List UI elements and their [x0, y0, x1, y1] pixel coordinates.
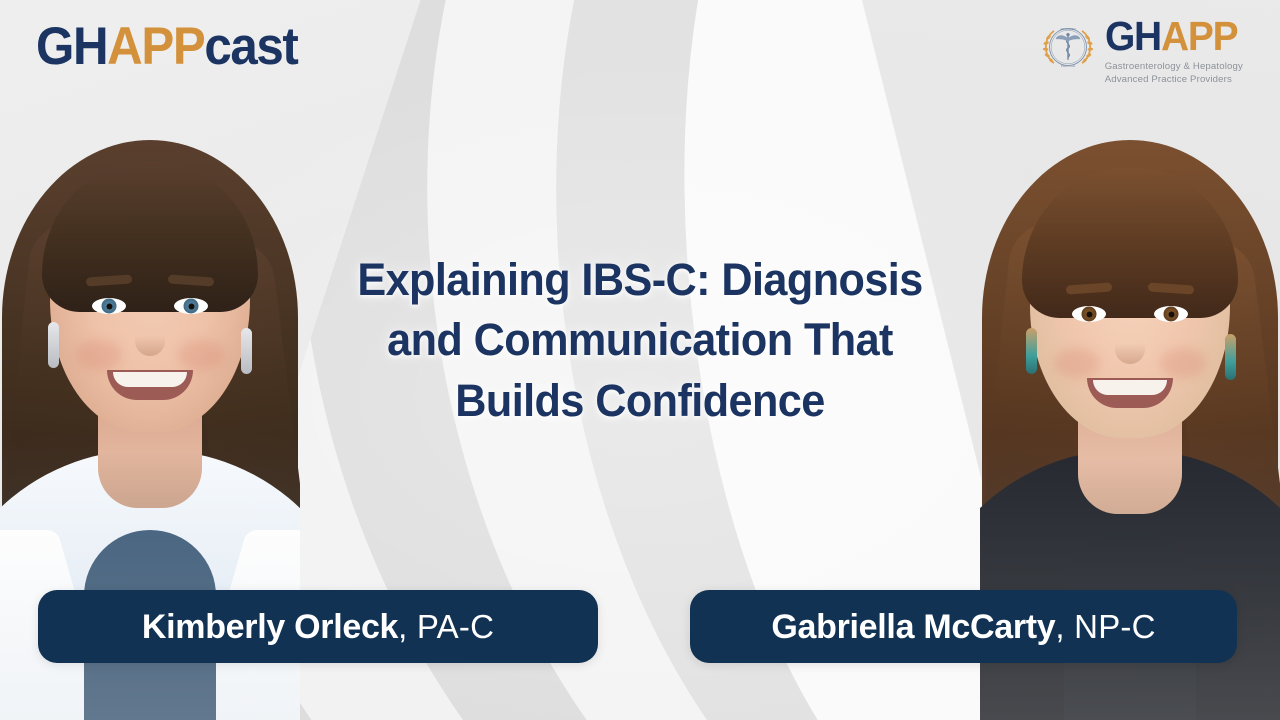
speaker-name-right: Gabriella McCarty — [771, 608, 1055, 646]
speaker-credential-right — [1065, 608, 1074, 645]
speaker-credential-right-value: NP-C — [1074, 608, 1155, 645]
speaker-separator-left: , — [398, 608, 407, 645]
speaker-name-left: Kimberly Orleck — [142, 608, 398, 646]
nameplate-left: Kimberly Orleck, PA-C — [38, 590, 598, 663]
nameplate-right: Gabriella McCarty, NP-C — [690, 590, 1237, 663]
title-line-1: Explaining IBS-C: Diagnosis — [275, 250, 1005, 310]
title-line-3: Builds Confidence — [275, 371, 1005, 431]
episode-title: Explaining IBS-C: Diagnosis and Communic… — [260, 250, 1020, 431]
speaker-credential-left — [408, 608, 417, 645]
speaker-credential-left-value: PA-C — [417, 608, 494, 645]
speaker-separator-right: , — [1055, 608, 1064, 645]
nameplate-left-content: Kimberly Orleck, PA-C — [142, 610, 494, 644]
nameplate-right-content: Gabriella McCarty, NP-C — [771, 610, 1155, 644]
title-line-2: and Communication That — [275, 310, 1005, 370]
episode-title-card: GHAPPcast — [0, 0, 1280, 720]
